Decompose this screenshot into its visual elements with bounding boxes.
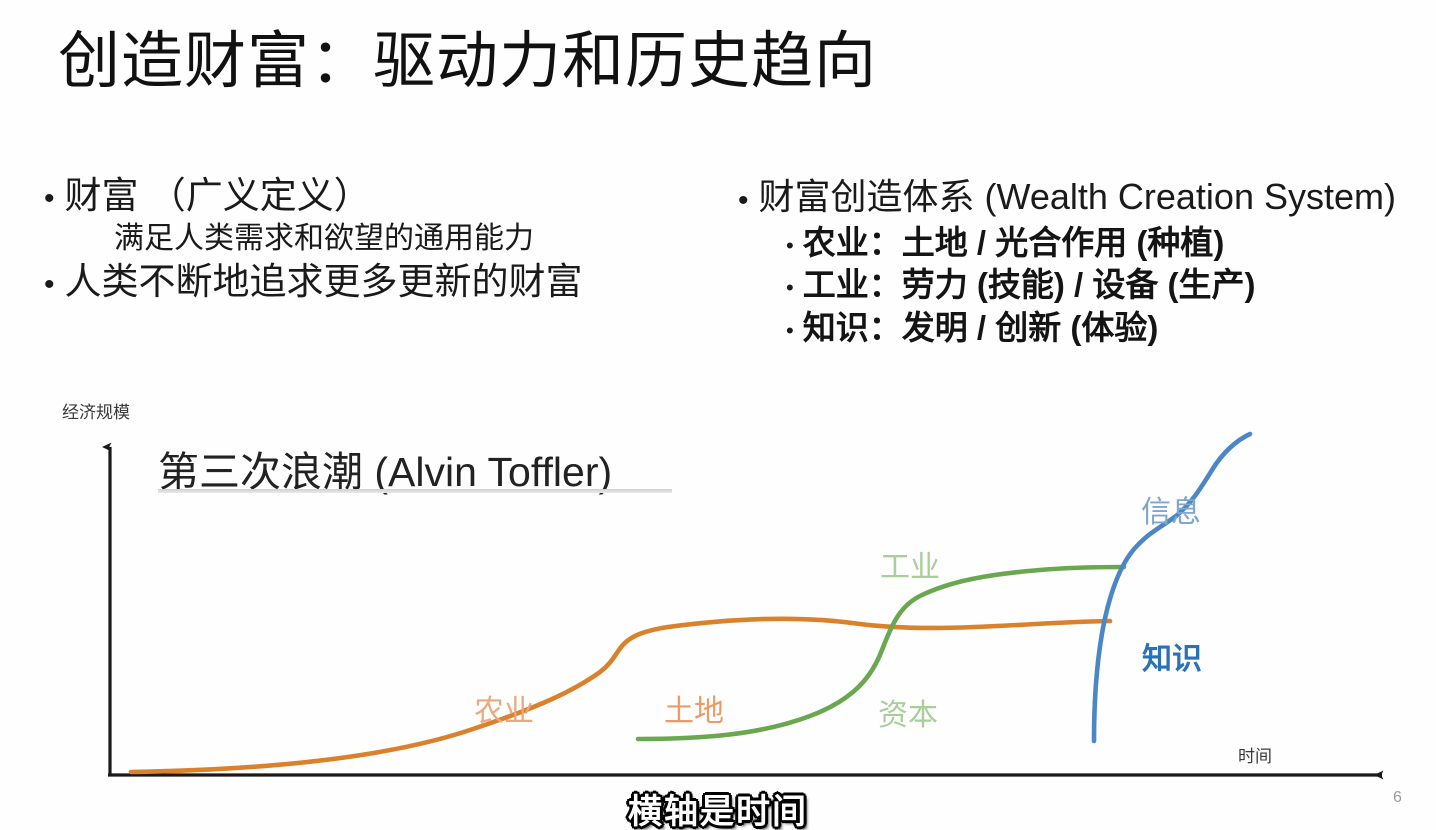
curve-information xyxy=(1094,434,1250,741)
curve-label-land: 土地 xyxy=(664,686,724,730)
curve-label-industry: 工业 xyxy=(880,542,940,586)
curve-agriculture xyxy=(131,619,1110,772)
slide-canvas: 创造财富：驱动力和历史趋向 • 财富 （广义定义） 满足人类需求和欲望的通用能力… xyxy=(0,0,1436,830)
curve-label-knowledge: 知识 xyxy=(1142,634,1202,678)
curve-label-agriculture: 农业 xyxy=(474,686,534,730)
chart-title-underline xyxy=(158,489,672,493)
video-caption: 横轴是时间 xyxy=(0,784,1436,830)
curve-label-information: 信息 xyxy=(1141,487,1201,531)
curve-label-capital: 资本 xyxy=(878,690,938,734)
x-axis-label: 时间 xyxy=(1238,742,1272,767)
slide-page-number: 6 xyxy=(1393,789,1402,807)
y-axis-label: 经济规模 xyxy=(62,398,130,423)
